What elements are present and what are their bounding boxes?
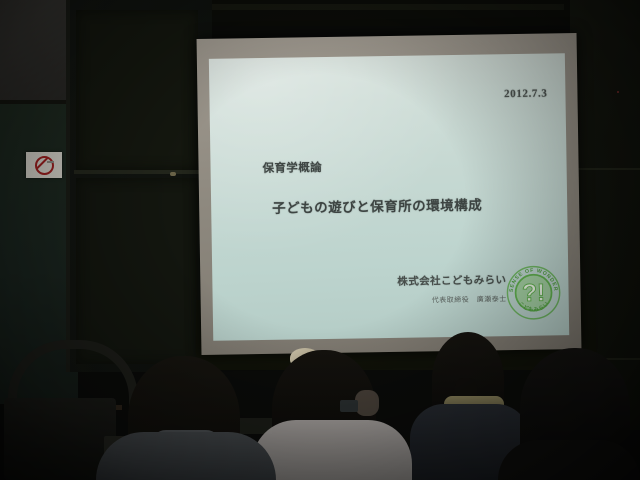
wall-right-seam-upper (572, 168, 640, 170)
person-far-right-body (498, 440, 640, 480)
person-front-left-body (96, 432, 276, 480)
presenter-name: 代表取締役 廣瀬泰士 (398, 294, 507, 306)
door-panel-lower (76, 178, 198, 364)
lecture-room-photo: 2012.7.3 保育学概論 子どもの遊びと保育所の環境構成 株式会社こどもみら… (0, 0, 640, 480)
slide-subject-title: 保育学概論 (262, 157, 481, 176)
door-rail (74, 170, 200, 174)
door-knob (170, 172, 176, 176)
company-logo-stamp: SENSE OF WONDER こどもみらい ?! (504, 263, 563, 322)
person-front-center-hand (355, 390, 379, 416)
slide-footer: 株式会社こどもみらい 代表取締役 廣瀬泰士 (397, 272, 506, 306)
projection-screen: 2012.7.3 保育学概論 子どもの遊びと保育所の環境構成 株式会社こどもみら… (197, 33, 582, 355)
no-smoking-sign (26, 152, 62, 178)
handheld-device (340, 400, 358, 412)
indicator-light (617, 91, 619, 93)
person-front-center-body (252, 420, 412, 480)
slide-main-title: 子どもの遊びと保育所の環境構成 (272, 194, 482, 217)
company-name: 株式会社こどもみらい (397, 272, 506, 289)
door-panel-upper (76, 10, 198, 170)
cigarette-icon (47, 161, 54, 163)
logo-question-exclamation-glyph: ?! (522, 280, 545, 307)
slide-date: 2012.7.3 (504, 87, 547, 100)
prohibition-icon (35, 156, 54, 175)
presentation-slide: 2012.7.3 保育学概論 子どもの遊びと保育所の環境構成 株式会社こどもみら… (209, 53, 569, 341)
slide-title-block: 保育学概論 子どもの遊びと保育所の環境構成 (262, 157, 482, 217)
ceiling-rail (184, 4, 564, 10)
